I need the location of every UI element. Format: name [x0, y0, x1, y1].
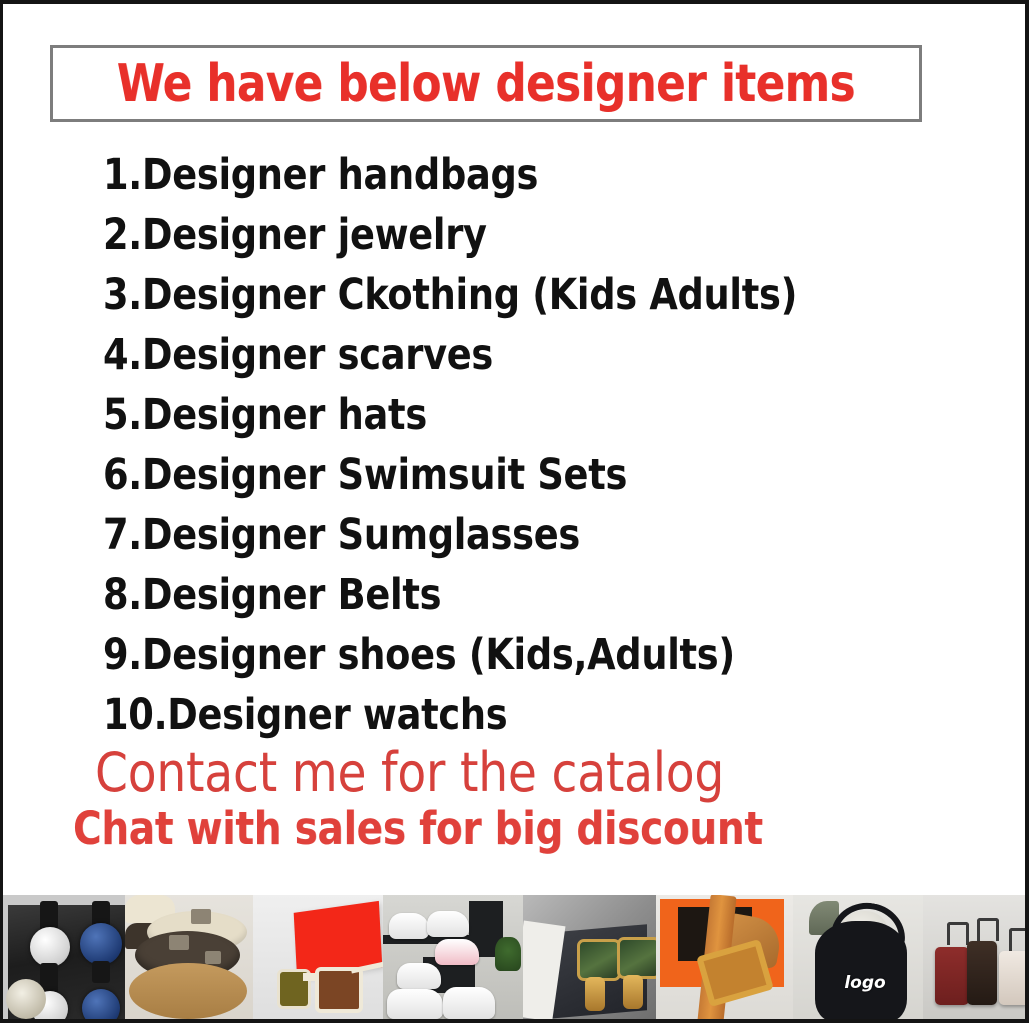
handbag-logo-text: logo: [835, 973, 895, 993]
product-thumbnail-strip: logo: [0, 895, 1029, 1023]
luggage-handle: [977, 918, 999, 941]
list-item-label: 7.Designer Sumglasses: [103, 514, 580, 557]
list-item: 7.Designer Sumglasses: [103, 505, 983, 565]
watch-face-blue: [82, 989, 120, 1023]
sunglass-lens-right: [315, 967, 363, 1013]
luggage-handle: [1009, 928, 1029, 951]
handbag-body: [815, 921, 907, 1021]
watch-coin: [6, 979, 46, 1019]
sneaker: [397, 963, 441, 989]
list-item-label: 10.Designer watchs: [103, 694, 507, 737]
chat-discount-text: Chat with sales for big discount: [73, 806, 763, 851]
earring-gem: [577, 939, 621, 981]
watch-face-blue: [80, 923, 122, 965]
thumbnail-sunglasses: [253, 895, 383, 1023]
promo-poster: We have below designer items 1.Designer …: [0, 0, 1029, 1023]
thumbnail-watches: [0, 895, 125, 1023]
list-item: 6.Designer Swimsuit Sets: [103, 445, 983, 505]
sneaker: [387, 989, 443, 1019]
list-item-label: 8.Designer Belts: [103, 574, 441, 617]
thumbnail-belts: [656, 895, 793, 1023]
list-item: 1.Designer handbags: [103, 145, 983, 205]
list-item: 2.Designer jewelry: [103, 205, 983, 265]
earring-drop: [585, 977, 605, 1011]
watches-scene: [8, 905, 125, 1023]
hat-tag: [205, 951, 221, 964]
luggage-handle: [947, 922, 969, 945]
list-item: 3.Designer Ckothing (Kids Adults): [103, 265, 983, 325]
thumbnail-shoes: [383, 895, 523, 1023]
list-item-label: 2.Designer jewelry: [103, 214, 487, 257]
list-item-label: 4.Designer scarves: [103, 334, 493, 377]
list-item: 5.Designer hats: [103, 385, 983, 445]
page-title: We have below designer items: [117, 58, 855, 110]
designer-items-list: 1.Designer handbags 2.Designer jewelry 3…: [103, 145, 983, 745]
hat-tan-brim: [129, 963, 247, 1019]
watch-face-white: [30, 927, 70, 967]
watch-strap: [92, 961, 110, 983]
thumbnail-jewelry: [523, 895, 656, 1023]
suitcase-white: [999, 951, 1029, 1005]
list-item-label: 1.Designer handbags: [103, 154, 538, 197]
thumbnail-hats: [125, 895, 253, 1023]
earring-gem: [617, 937, 656, 979]
list-item: 8.Designer Belts: [103, 565, 983, 625]
title-box: We have below designer items: [50, 45, 922, 122]
suitcase-brown: [967, 941, 997, 1005]
list-item-label: 6.Designer Swimsuit Sets: [103, 454, 627, 497]
earring-drop: [623, 975, 643, 1009]
sneaker-pink: [435, 939, 479, 965]
thumbnail-luggage: [923, 895, 1029, 1023]
list-item-label: 5.Designer hats: [103, 394, 427, 437]
sneaker: [427, 911, 469, 937]
suitcase-red: [935, 947, 969, 1005]
list-item-label: 9.Designer shoes (Kids,Adults): [103, 634, 735, 677]
contact-catalog-text: Contact me for the catalog: [95, 746, 724, 800]
list-item-label: 3.Designer Ckothing (Kids Adults): [103, 274, 797, 317]
sneaker: [443, 987, 495, 1019]
shelf-plant: [495, 937, 521, 971]
thumbnail-handbag: logo: [793, 895, 923, 1023]
list-item: 4.Designer scarves: [103, 325, 983, 385]
list-item: 9.Designer shoes (Kids,Adults): [103, 625, 983, 685]
hat-tag: [191, 909, 211, 924]
sneaker: [389, 913, 429, 939]
list-item: 10.Designer watchs: [103, 685, 983, 745]
hat-tag: [169, 935, 189, 950]
